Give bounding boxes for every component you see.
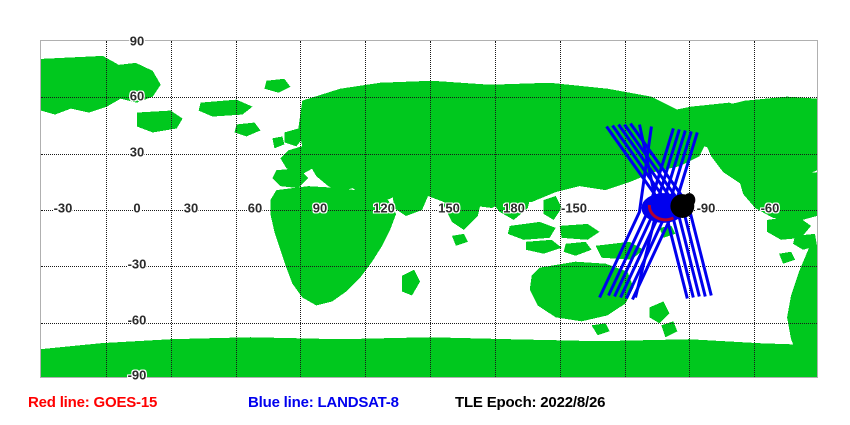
lat-tick--30: -30: [128, 257, 147, 272]
lon-tick-180: 180: [503, 201, 525, 216]
lat-tick--60: -60: [128, 313, 147, 328]
lon-tick-0: 0: [133, 201, 140, 216]
lon-tick-60: 60: [248, 201, 262, 216]
lon-tick-120: 120: [373, 201, 395, 216]
lon-tick--90: -90: [697, 201, 716, 216]
legend-blue-line-landsat: Blue line: LANDSAT-8: [248, 394, 399, 411]
legend-caption-bar: Red line: GOES-15 Blue line: LANDSAT-8 T…: [0, 392, 850, 420]
legend-red-line-goes: Red line: GOES-15: [28, 394, 157, 411]
legend-tle-epoch: TLE Epoch: 2022/8/26: [455, 394, 605, 411]
lon-tick-30: 30: [184, 201, 198, 216]
lon-tick-90: 90: [313, 201, 327, 216]
lat-tick--90: -90: [128, 368, 147, 383]
lon-tick--30: -30: [54, 201, 73, 216]
lon-tick--60: -60: [761, 201, 780, 216]
lat-tick-60: 60: [130, 89, 144, 104]
lat-tick-30: 30: [130, 145, 144, 160]
lon-tick-150: 150: [438, 201, 460, 216]
lon-tick--150: -150: [561, 201, 587, 216]
continent-shapes: [41, 56, 817, 377]
lat-tick-90: 90: [130, 34, 144, 49]
